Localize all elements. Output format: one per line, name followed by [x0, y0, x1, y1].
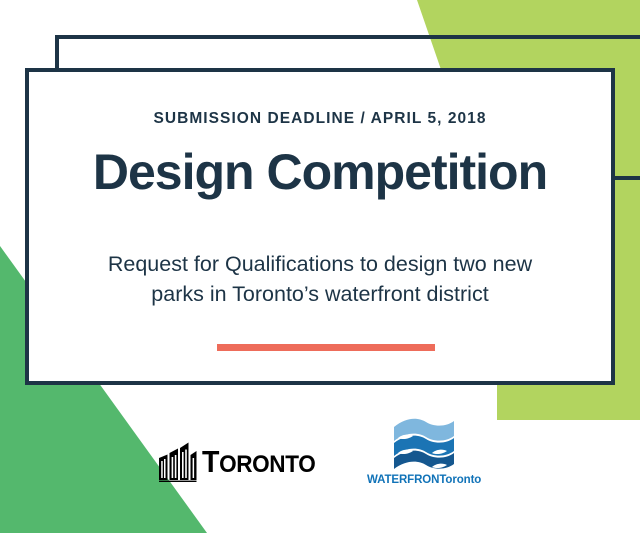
coral-divider [217, 344, 435, 351]
waterfront-waves-icon [392, 418, 456, 470]
toronto-wordmark-rest: ORONTO [219, 451, 315, 478]
submission-deadline-label: SUBMISSION DEADLINE / APRIL 5, 2018 [153, 110, 486, 128]
front-frame-card: SUBMISSION DEADLINE / APRIL 5, 2018 Desi… [25, 68, 615, 385]
waterfront-toronto-logo: WATERFRONToronto [367, 418, 481, 487]
page-title: Design Competition [93, 146, 547, 198]
logo-row: TORONTO WATERFRONToronto [0, 418, 640, 508]
poster-canvas: SUBMISSION DEADLINE / APRIL 5, 2018 Desi… [0, 0, 640, 533]
city-of-toronto-logo: TORONTO [159, 442, 325, 482]
toronto-wordmark: TORONTO [202, 446, 315, 478]
waterfront-wordmark-light: oronto [445, 474, 481, 486]
subtitle-text: Request for Qualifications to design two… [85, 249, 555, 310]
waterfront-wordmark-bold: WATERFRONT [367, 474, 445, 486]
toronto-buildings-icon [159, 442, 197, 482]
toronto-wordmark-initial: T [202, 444, 219, 479]
waterfront-toronto-wordmark: WATERFRONToronto [367, 475, 481, 487]
